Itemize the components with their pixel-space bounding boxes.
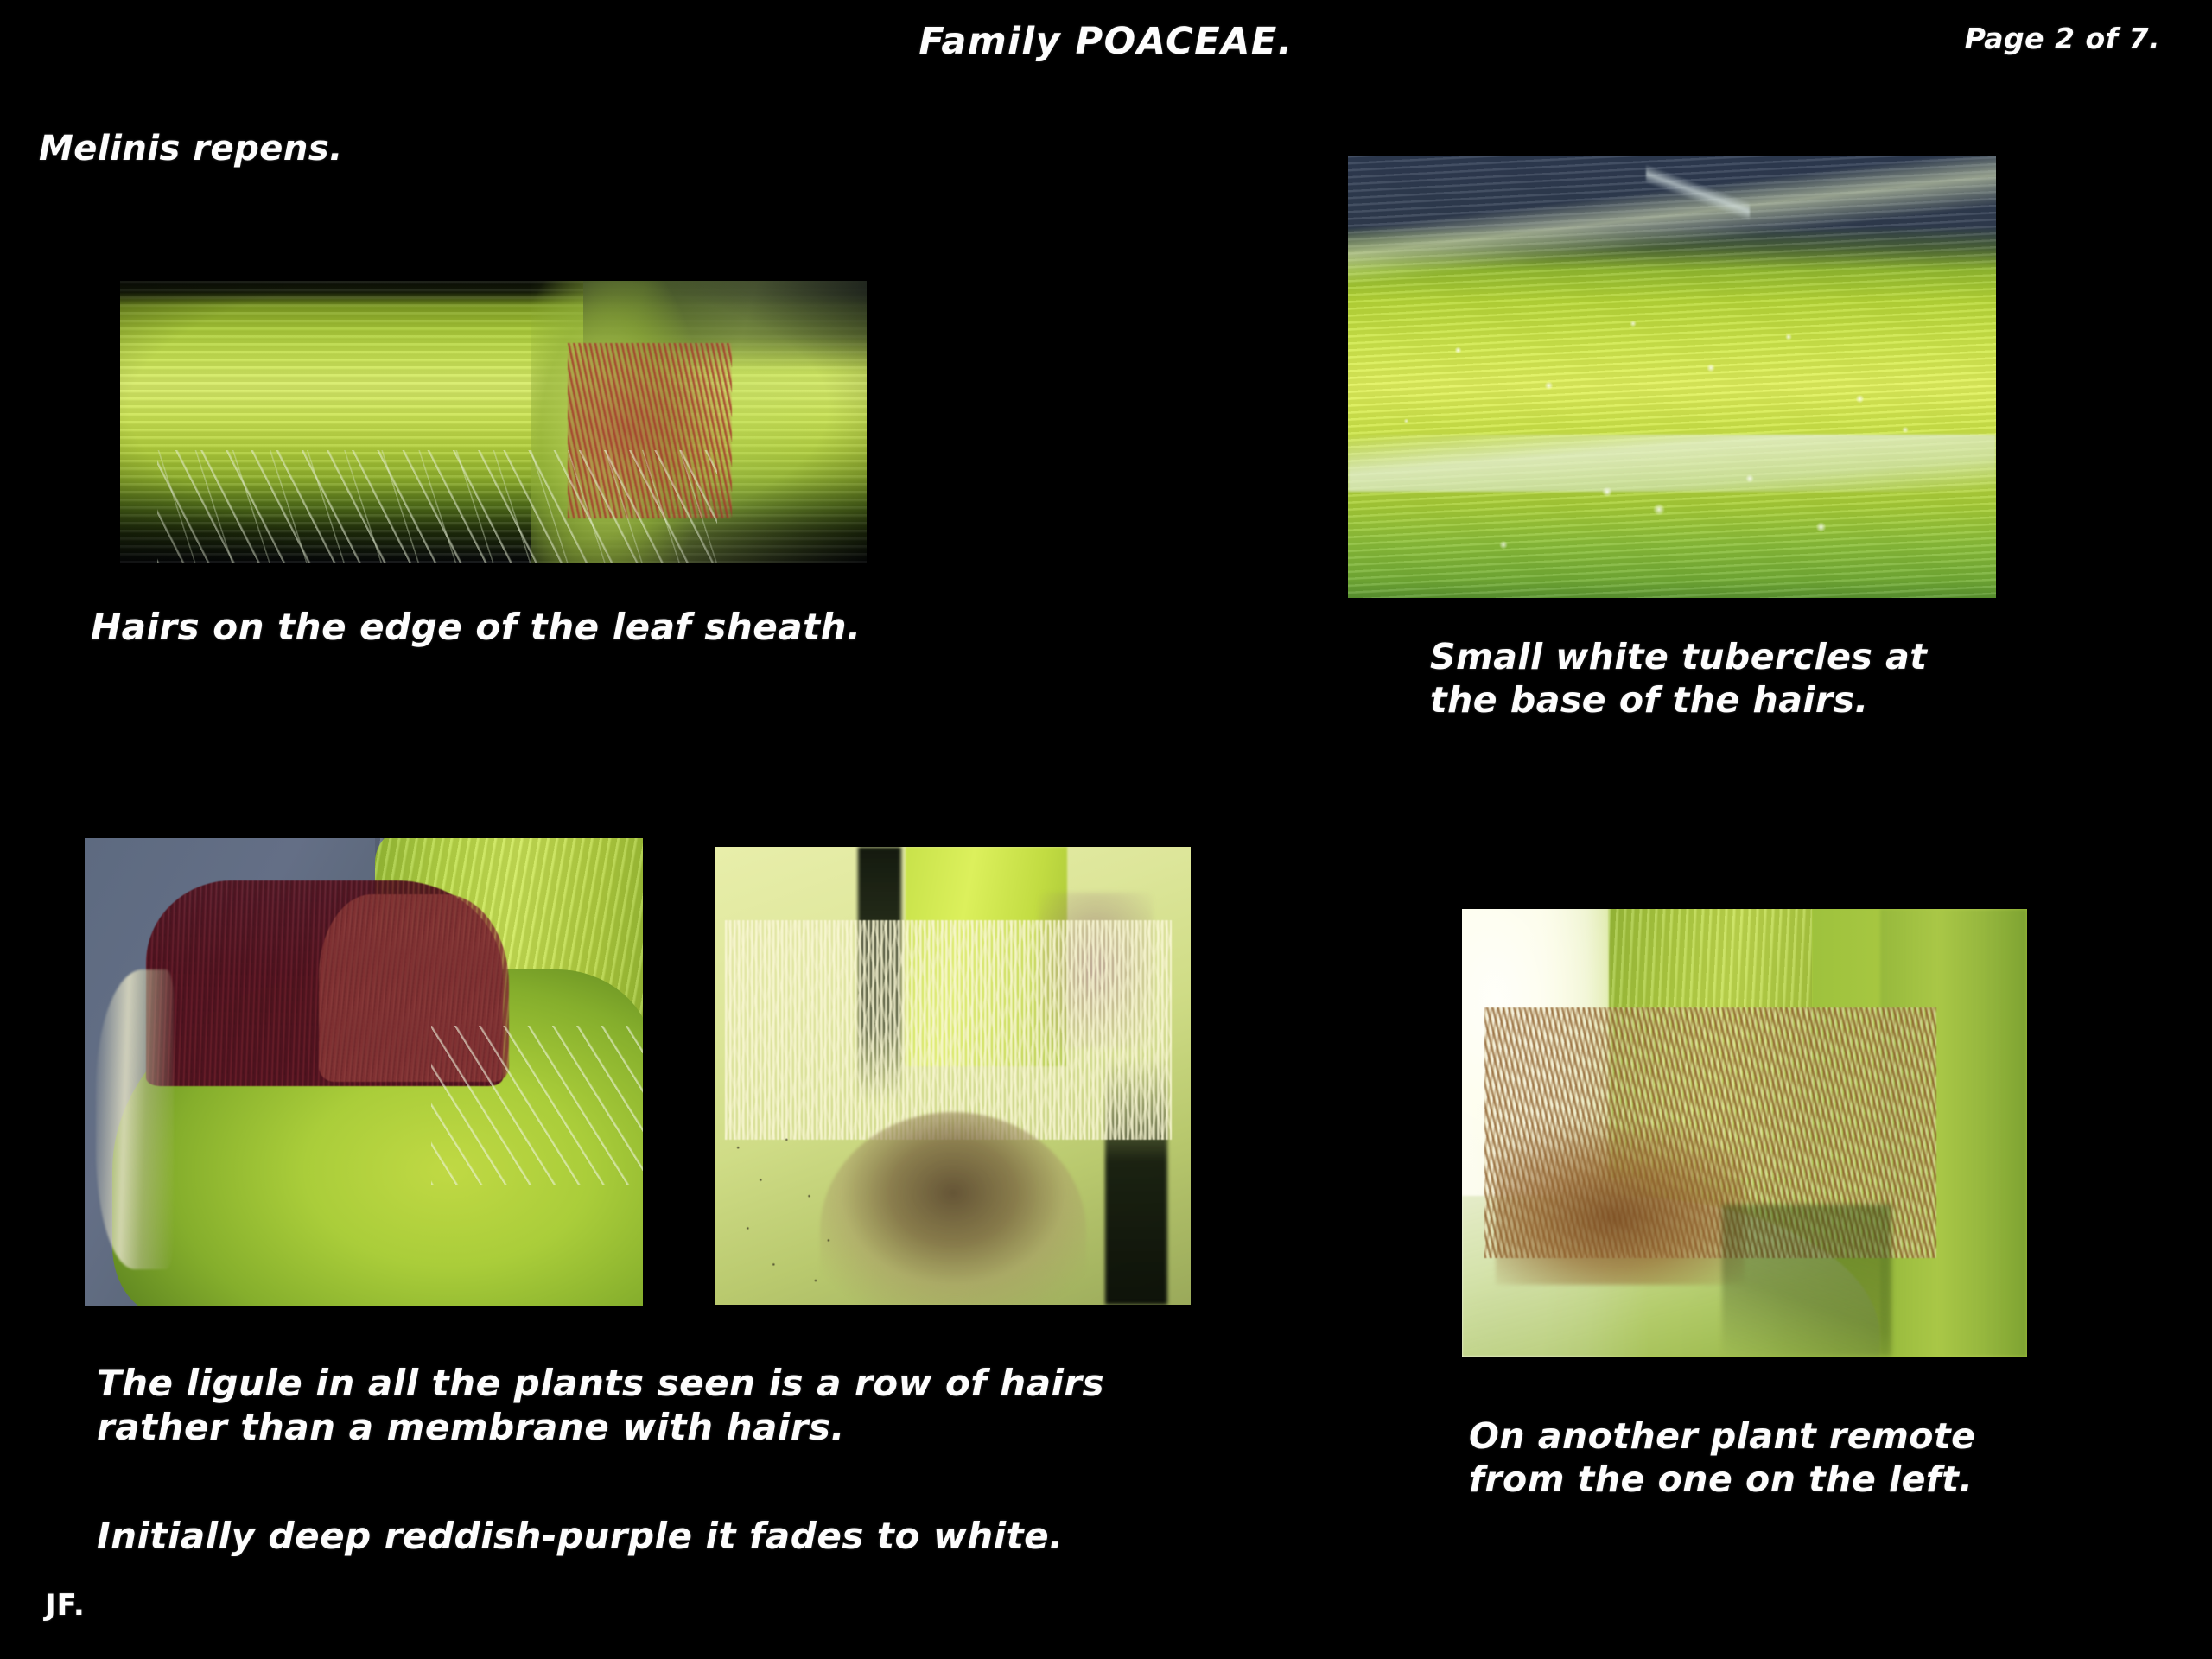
photo-white-tubercles[interactable] [1348,156,1996,598]
caption-white-tubercles: Small white tubercles at the base of the… [1430,635,1927,721]
photo-leaf-sheath-hairs[interactable] [120,281,867,563]
photo-ligule-white-hairs[interactable] [715,847,1191,1305]
caption-sheath-hairs: Hairs on the edge of the leaf sheath. [91,605,861,649]
pale-sheath-rim [96,969,174,1269]
cast-shadow [1722,1205,1891,1357]
caption-remote-plant: On another plant remote from the one on … [1469,1414,1975,1501]
page-number-label: Page 2 of 7. [1965,22,2160,56]
white-tubercle-dots [1348,156,1996,598]
caption-ligule-fades-to-white: Initially deep reddish-purple it fades t… [97,1514,1064,1558]
author-signature: JF. [45,1588,86,1624]
page-title: Family POACEAE. [0,19,2212,64]
photo-ligule-remote-plant[interactable] [1462,909,2027,1357]
scattered-white-hairs [431,1026,643,1185]
ligule-dark-base [1496,1124,1745,1285]
photo-ligule-purple-hairs[interactable] [85,838,643,1306]
surface-debris-specks [715,1103,877,1305]
species-name-label: Melinis repens. [39,128,343,170]
photo-vignette [120,281,867,563]
caption-ligule-row-of-hairs: The ligule in all the plants seen is a r… [97,1361,1104,1449]
